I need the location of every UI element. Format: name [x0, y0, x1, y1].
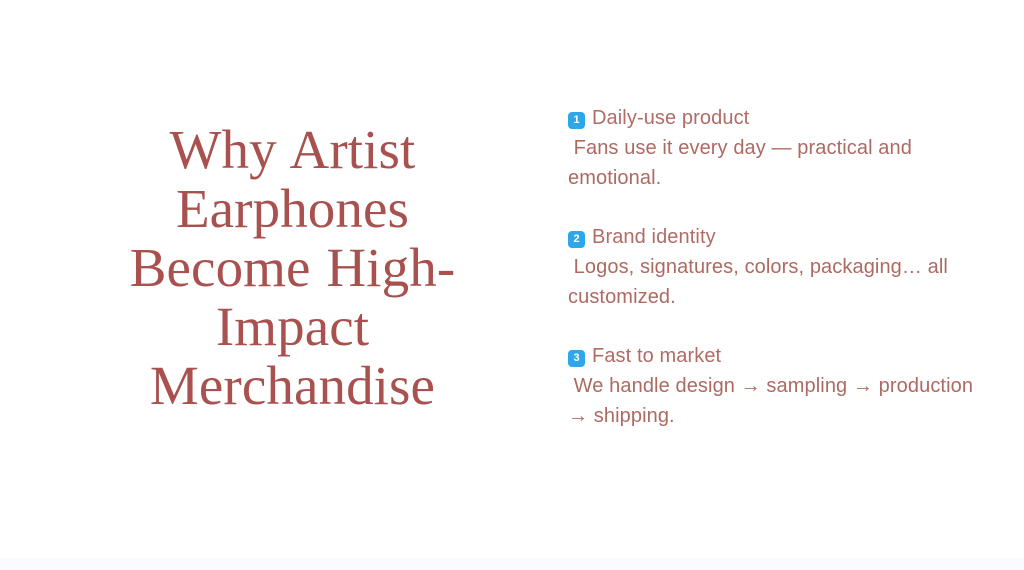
number-badge-icon: 1 [568, 112, 585, 129]
list-item: 2Brand identity Logos, signatures, color… [568, 223, 980, 312]
point-description: We handle design → sampling → production… [568, 372, 980, 431]
point-heading-row: 3Fast to market [568, 342, 980, 372]
point-description: Logos, signatures, colors, packaging… al… [568, 253, 980, 312]
point-title: Daily-use product [592, 107, 749, 129]
point-heading-row: 1Daily-use product [568, 104, 980, 134]
number-badge-icon: 3 [568, 350, 585, 367]
bottom-divider-band [0, 558, 1024, 570]
headline-column: Why Artist Earphones Become High-Impact … [120, 120, 465, 450]
point-title: Fast to market [592, 345, 721, 367]
point-title: Brand identity [592, 226, 716, 248]
point-heading-row: 2Brand identity [568, 223, 980, 253]
slide-canvas: Why Artist Earphones Become High-Impact … [0, 0, 1024, 570]
page-title: Why Artist Earphones Become High-Impact … [120, 120, 465, 415]
point-description: Fans use it every day — practical and em… [568, 134, 980, 193]
points-column: 1Daily-use product Fans use it every day… [568, 104, 980, 431]
list-item: 1Daily-use product Fans use it every day… [568, 104, 980, 193]
number-badge-icon: 2 [568, 231, 585, 248]
list-item: 3Fast to market We handle design → sampl… [568, 342, 980, 431]
